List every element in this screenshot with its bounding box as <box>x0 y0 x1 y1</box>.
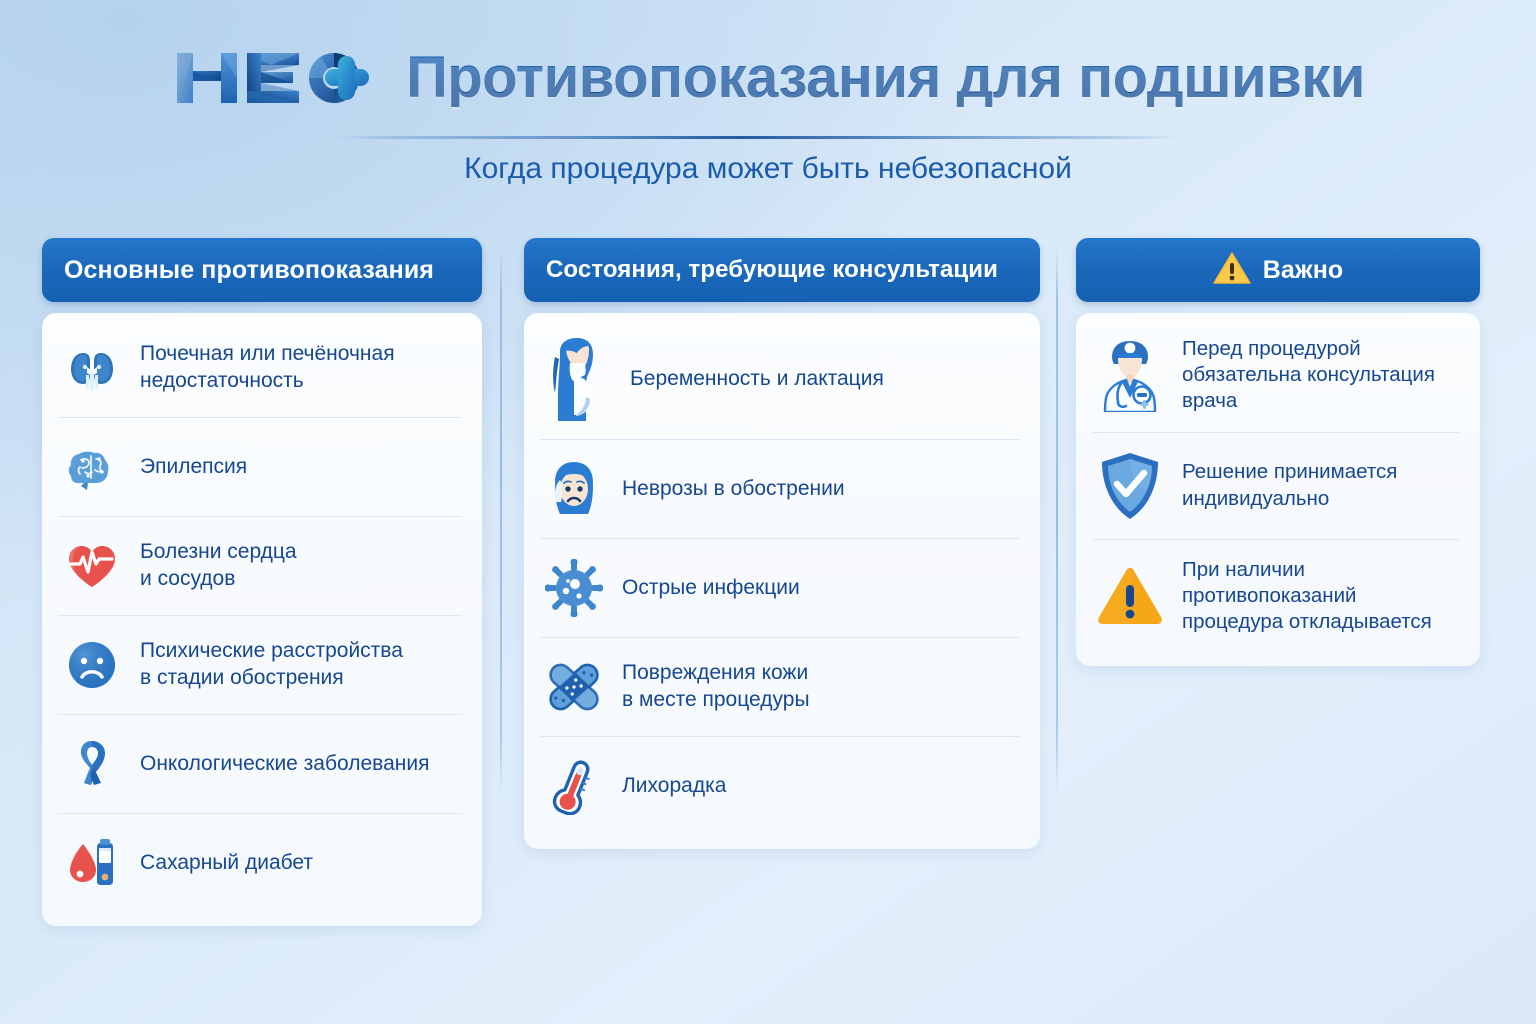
page-title: Противопоказания для подшивки <box>406 49 1365 107</box>
list-item[interactable]: При наличии противопоказаний процедура о… <box>1092 540 1460 653</box>
bandage-icon <box>542 655 606 719</box>
column-separator-1 <box>500 248 502 794</box>
list-item-label: Лихорадка <box>622 773 726 800</box>
column-primary-contraindications: Основные противопоказания <box>42 238 482 926</box>
column-important: Важно <box>1076 238 1480 666</box>
list-item-label: Повреждения кожи в месте процедуры <box>622 660 810 714</box>
column-header-primary: Основные противопоказания <box>42 238 482 302</box>
column-conditions-requiring-consultation: Состояния, требующие консультации <box>524 238 1040 849</box>
list-item[interactable]: Болезни сердца и сосудов <box>58 517 462 616</box>
list-item-label: Сахарный диабет <box>140 850 313 877</box>
list-item-label: Эпилепсия <box>140 454 247 481</box>
warning-triangle-icon <box>1213 251 1251 290</box>
list-item-label: При наличии противопоказаний процедура о… <box>1182 557 1432 636</box>
list-item[interactable]: Лихорадка <box>540 737 1020 835</box>
list-item-label: Острые инфекции <box>622 575 800 602</box>
list-item[interactable]: Острые инфекции <box>540 539 1020 638</box>
doctor-icon <box>1094 337 1166 413</box>
list-item[interactable]: Неврозы в обострении <box>540 440 1020 539</box>
list-item[interactable]: Эпилепсия <box>58 418 462 517</box>
list-item-label: Решение принимается индивидуально <box>1182 459 1397 511</box>
list-item-label: Беременность и лактация <box>630 366 884 393</box>
list-item[interactable]: Почечная или печёночная недостаточность <box>58 319 462 418</box>
column-body-important: Перед процедурой обязательна консультаци… <box>1076 313 1480 666</box>
glucometer-blood-drop-icon <box>60 831 124 895</box>
list-item[interactable]: Решение принимается индивидуально <box>1092 433 1460 540</box>
column-header-label: Состояния, требующие консультации <box>546 256 998 284</box>
list-item-label: Перед процедурой обязательна консультаци… <box>1182 336 1435 415</box>
ribbon-icon <box>60 732 124 796</box>
page-subtitle: Когда процедура может быть небезопасной <box>0 152 1536 186</box>
list-item[interactable]: Перед процедурой обязательна консультаци… <box>1092 319 1460 433</box>
virus-icon <box>542 556 606 620</box>
column-header-important: Важно <box>1076 238 1480 302</box>
sad-woman-icon <box>542 457 606 521</box>
list-item[interactable]: Психические расстройства в стадии обостр… <box>58 616 462 715</box>
list-item-label: Психические расстройства в стадии обостр… <box>140 638 403 692</box>
list-item[interactable]: Повреждения кожи в месте процедуры <box>540 638 1020 737</box>
sad-face-icon <box>60 633 124 697</box>
list-item-label: Почечная или печёночная недостаточность <box>140 341 395 395</box>
list-item-label: Онкологические заболевания <box>140 751 429 778</box>
column-header-consultation: Состояния, требующие консультации <box>524 238 1040 302</box>
title-row: Противопоказания для подшивки <box>0 0 1536 114</box>
neo-plus-logo <box>171 42 386 114</box>
heartbeat-icon <box>60 534 124 598</box>
brain-icon <box>60 435 124 499</box>
column-separator-2 <box>1056 248 1058 794</box>
shield-check-icon <box>1094 450 1166 522</box>
list-item-label: Неврозы в обострении <box>622 476 845 503</box>
column-header-label: Важно <box>1263 256 1344 285</box>
page-header: Противопоказания для подшивки Когда проц… <box>0 0 1536 210</box>
kidneys-icon <box>60 336 124 400</box>
column-body-consultation: Беременность и лактация <box>524 313 1040 849</box>
thermometer-icon <box>542 754 606 818</box>
list-item[interactable]: Онкологические заболевания <box>58 715 462 814</box>
column-header-label: Основные противопоказания <box>64 256 434 285</box>
list-item[interactable]: Сахарный диабет <box>58 814 462 912</box>
warning-triangle-icon <box>1094 563 1166 629</box>
list-item-label: Болезни сердца и сосудов <box>140 539 297 593</box>
column-body-primary: Почечная или печёночная недостаточность <box>42 313 482 926</box>
title-divider <box>333 136 1181 139</box>
neo-plus-logo-mark <box>171 47 386 109</box>
pregnant-woman-icon <box>542 336 614 422</box>
list-item[interactable]: Беременность и лактация <box>540 319 1020 440</box>
